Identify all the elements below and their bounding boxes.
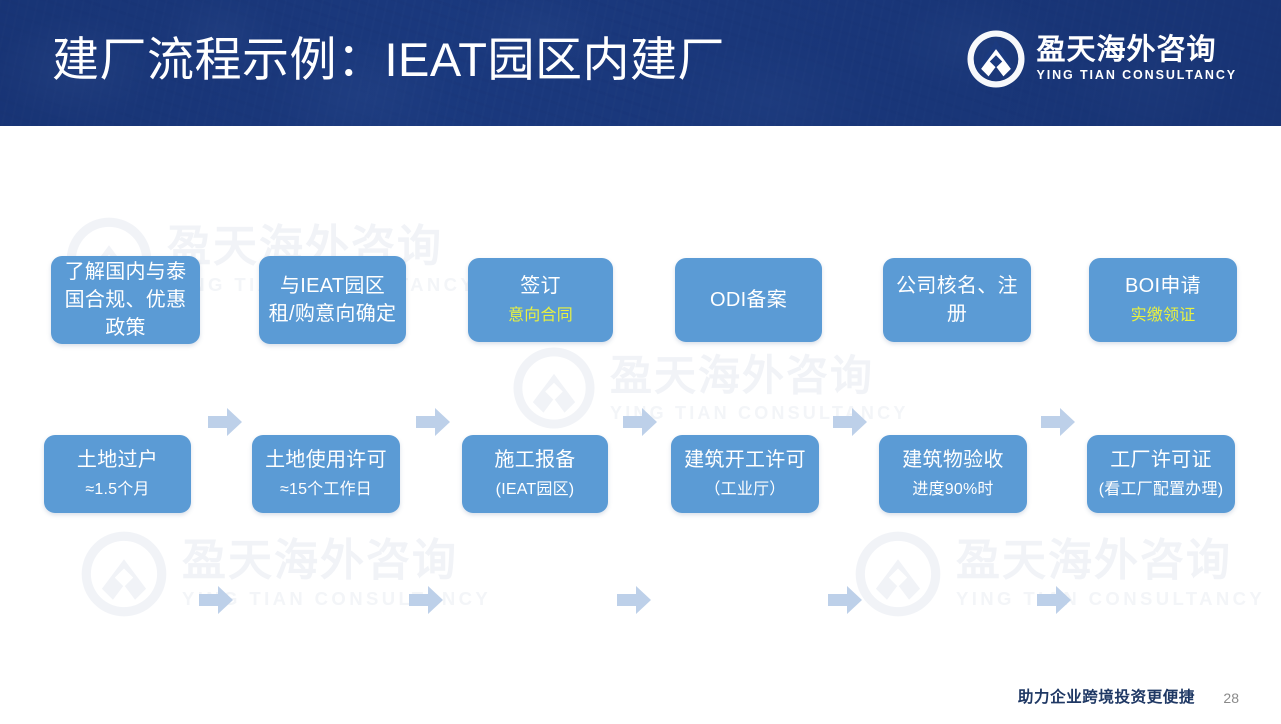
right-arrow-icon: [833, 407, 867, 437]
flow-step-title: 公司核名、注册: [891, 272, 1023, 328]
watermark-text: 盈天海外咨询 YING TIAN CONSULTANCY: [956, 539, 1265, 609]
flow-step-box[interactable]: 施工报备 (IEAT园区): [462, 435, 608, 513]
brand-logo-text: 盈天海外咨询 YING TIAN CONSULTANCY: [1036, 36, 1237, 82]
flow-step-box[interactable]: 建筑物验收 进度90%时: [879, 435, 1027, 513]
flow-step-box[interactable]: 土地使用许可 ≈15个工作日: [252, 435, 400, 513]
ying-tian-swirl-logo-icon: [852, 528, 944, 620]
flow-step-box[interactable]: BOI申请 实缴领证: [1089, 258, 1237, 342]
flow-step-title: 工厂许可证: [1110, 446, 1212, 474]
flow-step-subtitle: 进度90%时: [912, 478, 993, 502]
flow-step-box[interactable]: 签订 意向合同: [468, 258, 613, 342]
brand-logo: 盈天海外咨询 YING TIAN CONSULTANCY: [965, 28, 1237, 90]
watermark-name-en: YING TIAN CONSULTANCY: [956, 590, 1265, 609]
footer-tagline: 助力企业跨境投资更便捷: [1018, 685, 1195, 707]
right-arrow-icon: [199, 585, 233, 615]
flow-step-box[interactable]: 公司核名、注册: [883, 258, 1031, 342]
ying-tian-swirl-logo-icon: [510, 344, 598, 432]
flow-step-subtitle: 实缴领证: [1131, 304, 1196, 328]
right-arrow-icon: [828, 585, 862, 615]
flow-step-box[interactable]: 建筑开工许可 （工业厅）: [671, 435, 819, 513]
watermark-name-cn: 盈天海外咨询: [956, 539, 1265, 583]
page-number: 28: [1223, 690, 1239, 706]
ying-tian-swirl-logo-icon: [78, 528, 170, 620]
right-arrow-icon: [416, 407, 450, 437]
brand-name-en: YING TIAN CONSULTANCY: [1036, 69, 1237, 82]
flow-step-subtitle: ≈15个工作日: [280, 478, 372, 502]
flow-step-title: 建筑物验收: [902, 446, 1004, 474]
right-arrow-icon: [617, 585, 651, 615]
flow-step-title: 建筑开工许可: [684, 446, 806, 474]
brand-name-cn: 盈天海外咨询: [1036, 36, 1237, 65]
flow-step-title: 了解国内与泰国合规、优惠政策: [59, 258, 192, 342]
flow-step-title: 施工报备: [494, 446, 575, 474]
slide-body: 盈天海外咨询 YING TIAN CONSULTANCY 盈天海外咨询 YING…: [0, 126, 1281, 724]
slide-header: 建厂流程示例：IEAT园区内建厂 盈天海外咨询 YING TIAN CONSUL…: [0, 0, 1281, 126]
flow-step-subtitle: ≈1.5个月: [85, 478, 149, 502]
right-arrow-icon: [1041, 407, 1075, 437]
right-arrow-icon: [208, 407, 242, 437]
flow-step-title: 签订: [520, 272, 561, 300]
flow-step-title: ODI备案: [710, 286, 787, 314]
flow-step-title: 与IEAT园区租/购意向确定: [267, 272, 398, 328]
flow-step-subtitle: （工业厅）: [704, 478, 785, 502]
flow-step-box[interactable]: 工厂许可证 (看工厂配置办理): [1087, 435, 1235, 513]
watermark-name-cn: 盈天海外咨询: [182, 539, 491, 583]
flow-step-subtitle: 意向合同: [508, 304, 573, 328]
right-arrow-icon: [1037, 585, 1071, 615]
flow-step-subtitle: (IEAT园区): [496, 478, 575, 502]
watermark-name-cn: 盈天海外咨询: [610, 355, 909, 397]
flow-step-box[interactable]: ODI备案: [675, 258, 822, 342]
flow-step-title: 土地过户: [77, 446, 158, 474]
page-title: 建厂流程示例：IEAT园区内建厂: [52, 22, 725, 98]
ying-tian-swirl-logo-icon: [965, 28, 1027, 90]
right-arrow-icon: [623, 407, 657, 437]
flow-step-box[interactable]: 土地过户 ≈1.5个月: [44, 435, 191, 513]
flow-step-subtitle: (看工厂配置办理): [1099, 478, 1223, 502]
right-arrow-icon: [409, 585, 443, 615]
flow-step-box[interactable]: 与IEAT园区租/购意向确定: [259, 256, 406, 344]
flow-step-box[interactable]: 了解国内与泰国合规、优惠政策: [51, 256, 200, 344]
flow-step-title: 土地使用许可: [265, 446, 387, 474]
flow-step-title: BOI申请: [1125, 272, 1201, 300]
